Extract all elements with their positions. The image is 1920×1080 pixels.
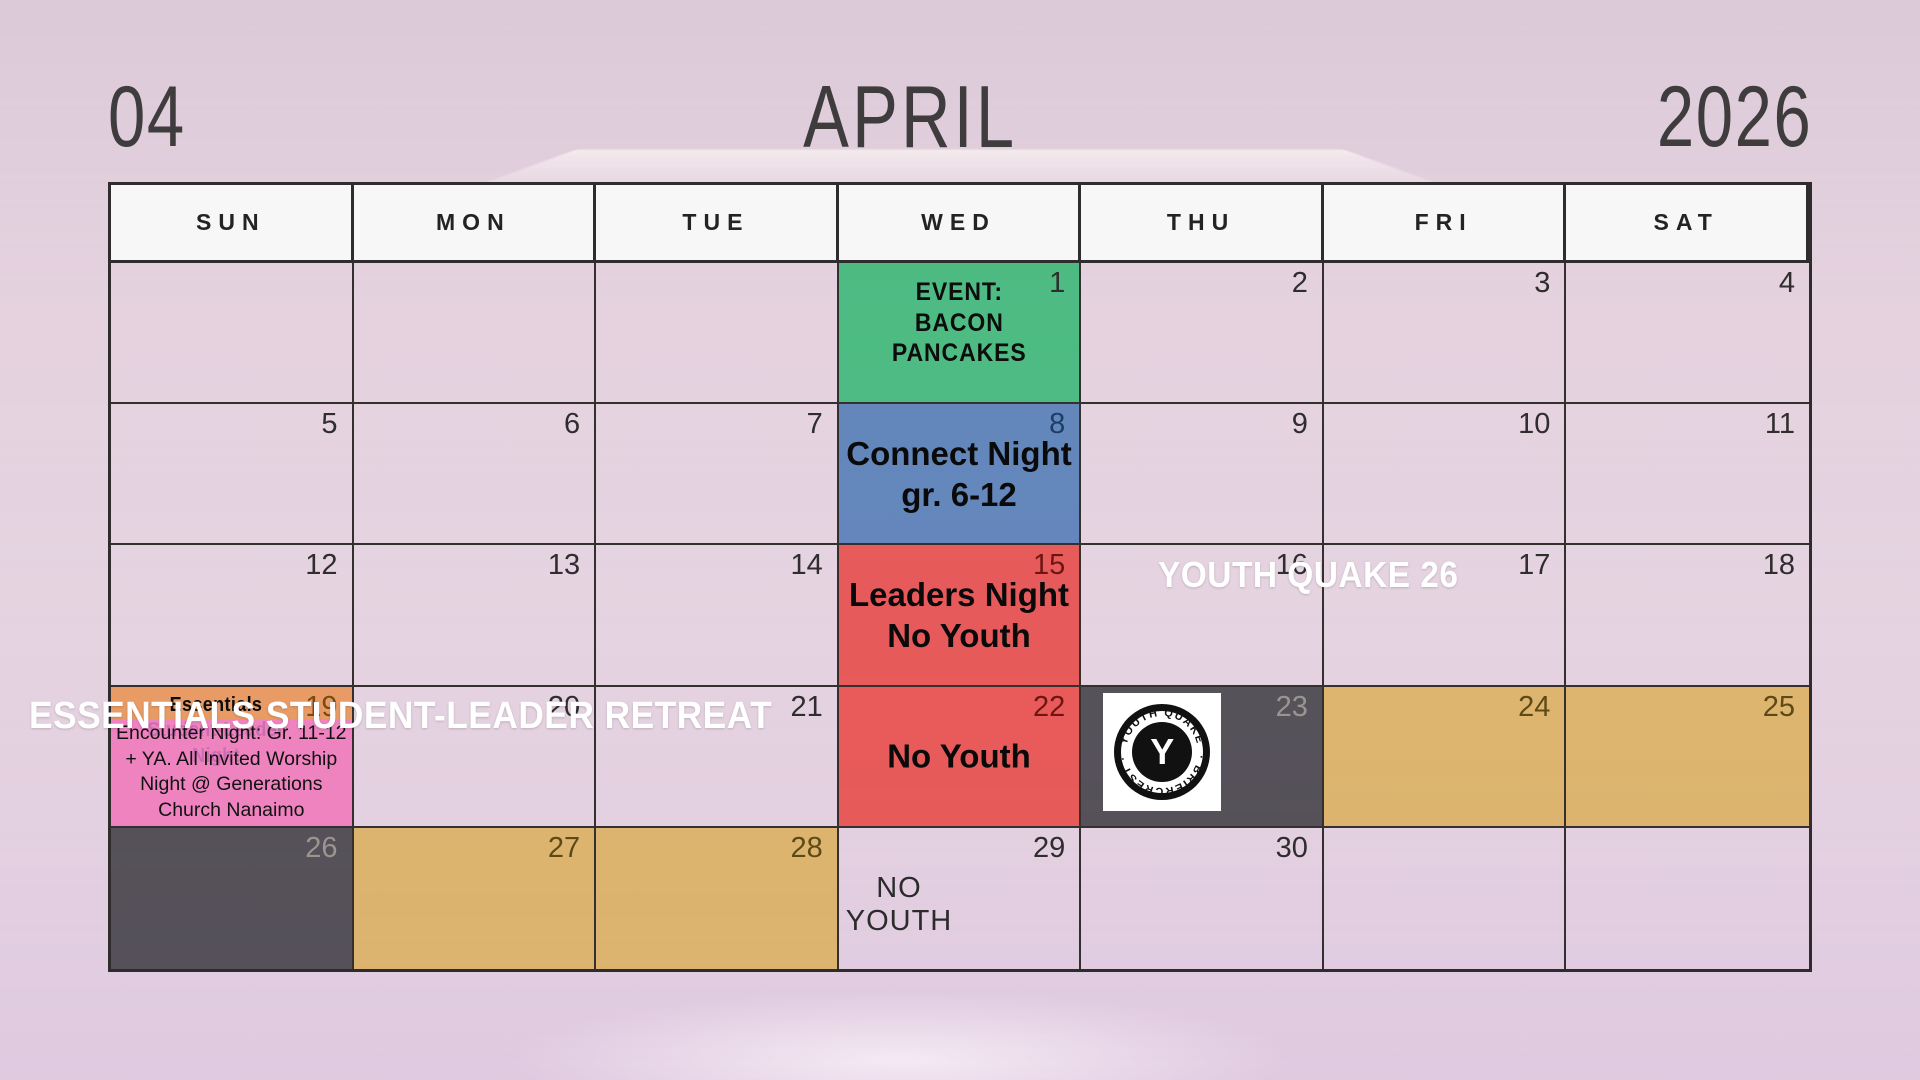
calendar-day-cell-8[interactable]: 8Connect Nightgr. 6-12 [839, 404, 1082, 545]
day-event-text: No Youth [839, 736, 1080, 777]
day-number: 10 [1518, 410, 1550, 439]
day-number: 13 [548, 551, 580, 580]
day-number: 15 [1033, 551, 1065, 580]
calendar-day-cell-19[interactable]: 19EssentialsStudent-LeaderNightEncounter… [111, 687, 354, 828]
calendar-grid: SUNMONTUEWEDTHUFRISAT1EVENT:BACONPANCAKE… [108, 182, 1812, 972]
weekday-header-sat: SAT [1566, 185, 1809, 263]
calendar-day-cell-25[interactable]: 25 [1566, 687, 1809, 828]
day-number: 9 [1292, 410, 1308, 439]
calendar-day-cell-10[interactable]: 10 [1324, 404, 1567, 545]
calendar-day-cell-20[interactable]: 20 [354, 687, 597, 828]
event-line: Connect Night [839, 433, 1080, 474]
event-line: EVENT: [848, 277, 1069, 308]
calendar-day-cell-5[interactable]: 5 [111, 404, 354, 545]
day-event-text: EVENT:BACONPANCAKES [848, 277, 1069, 369]
day-number: 25 [1763, 693, 1795, 722]
weekday-header-wed: WED [839, 185, 1082, 263]
day-number: 20 [548, 693, 580, 722]
calendar-day-cell-30[interactable]: 30 [1081, 828, 1324, 969]
calendar-cell-empty [111, 263, 354, 404]
day-number: 17 [1518, 551, 1550, 580]
day-number: 3 [1534, 269, 1550, 298]
svg-text:· BRIERCREST ·: · BRIERCREST · [1117, 754, 1207, 797]
svg-text:YOUTH QUAKE: YOUTH QUAKE [1118, 706, 1206, 745]
day-number: 11 [1765, 410, 1795, 439]
calendar-cell-empty [1566, 828, 1809, 969]
event-line: gr. 6-12 [839, 474, 1080, 515]
calendar-day-cell-11[interactable]: 11 [1566, 404, 1809, 545]
calendar-cell-empty [1324, 828, 1567, 969]
day-event-note: Encounter Night: Gr. 11-12 + YA. All Inv… [111, 719, 352, 826]
day-number: 30 [1276, 834, 1308, 863]
calendar-day-cell-6[interactable]: 6 [354, 404, 597, 545]
calendar-header: 04 APRIL 2026 [108, 62, 1812, 172]
weekday-header-thu: THU [1081, 185, 1324, 263]
calendar-day-cell-16[interactable]: 16 [1081, 545, 1324, 686]
day-number: 4 [1779, 269, 1795, 298]
event-line: BACON [848, 308, 1069, 339]
day-number: 18 [1763, 551, 1795, 580]
calendar-day-cell-1[interactable]: 1EVENT:BACONPANCAKES [839, 263, 1082, 404]
day-number: 12 [305, 551, 337, 580]
day-number: 5 [321, 410, 337, 439]
calendar-day-cell-21[interactable]: 21 [596, 687, 839, 828]
day-number: 21 [790, 693, 822, 722]
calendar-day-cell-24[interactable]: 24 [1324, 687, 1567, 828]
calendar-day-cell-22[interactable]: 22No Youth [839, 687, 1082, 828]
day-event-text: Leaders NightNo Youth [839, 574, 1080, 657]
weekday-header-fri: FRI [1324, 185, 1567, 263]
event-line: NO YOUTH [839, 872, 960, 938]
day-number: 6 [564, 410, 580, 439]
logo-arc-text: YOUTH QUAKE· BRIERCREST · [1114, 704, 1210, 800]
day-number: 27 [548, 834, 580, 863]
calendar-day-cell-29[interactable]: 29NO YOUTH [839, 828, 1082, 969]
header-month-name: APRIL [803, 73, 1017, 161]
header-year: 2026 [1657, 74, 1812, 160]
weekday-header-sun: SUN [111, 185, 354, 263]
event-line: No Youth [839, 615, 1080, 656]
calendar-day-cell-26[interactable]: 26 [111, 828, 354, 969]
calendar-cell-empty [354, 263, 597, 404]
logo-outer-ring: YYOUTH QUAKE· BRIERCREST · [1114, 704, 1210, 800]
day-number: 16 [1276, 551, 1308, 580]
day-number: 24 [1518, 693, 1550, 722]
calendar-day-cell-28[interactable]: 28 [596, 828, 839, 969]
event-line: Essentials [123, 693, 309, 719]
day-number: 22 [1033, 693, 1065, 722]
day-number: 1 [1049, 269, 1065, 298]
calendar-day-cell-13[interactable]: 13 [354, 545, 597, 686]
calendar-day-cell-18[interactable]: 18 [1566, 545, 1809, 686]
calendar-cell-empty [596, 263, 839, 404]
day-number: 14 [790, 551, 822, 580]
day-event-text: Connect Nightgr. 6-12 [839, 433, 1080, 516]
calendar-day-cell-2[interactable]: 2 [1081, 263, 1324, 404]
day-number: 2 [1292, 269, 1308, 298]
event-line: PANCAKES [848, 338, 1069, 369]
weekday-header-tue: TUE [596, 185, 839, 263]
calendar-day-cell-27[interactable]: 27 [354, 828, 597, 969]
youth-quake-logo: YYOUTH QUAKE· BRIERCREST · [1103, 693, 1221, 811]
event-line: No Youth [839, 736, 1080, 777]
day-number: 29 [1033, 834, 1065, 863]
weekday-header-mon: MON [354, 185, 597, 263]
day-number: 26 [305, 834, 337, 863]
calendar-day-cell-12[interactable]: 12 [111, 545, 354, 686]
day-number: 28 [790, 834, 822, 863]
day-event-text: NO YOUTH [839, 872, 1080, 938]
calendar-day-cell-3[interactable]: 3 [1324, 263, 1567, 404]
calendar-day-cell-7[interactable]: 7 [596, 404, 839, 545]
calendar-day-cell-14[interactable]: 14 [596, 545, 839, 686]
day-number: 23 [1276, 693, 1308, 722]
day-number: 8 [1049, 410, 1065, 439]
day-number: 19 [305, 693, 337, 722]
header-month-number: 04 [108, 74, 186, 160]
day-number: 7 [807, 410, 823, 439]
calendar-day-cell-4[interactable]: 4 [1566, 263, 1809, 404]
calendar-day-cell-15[interactable]: 15Leaders NightNo Youth [839, 545, 1082, 686]
calendar-day-cell-9[interactable]: 9 [1081, 404, 1324, 545]
calendar-day-cell-17[interactable]: 17 [1324, 545, 1567, 686]
